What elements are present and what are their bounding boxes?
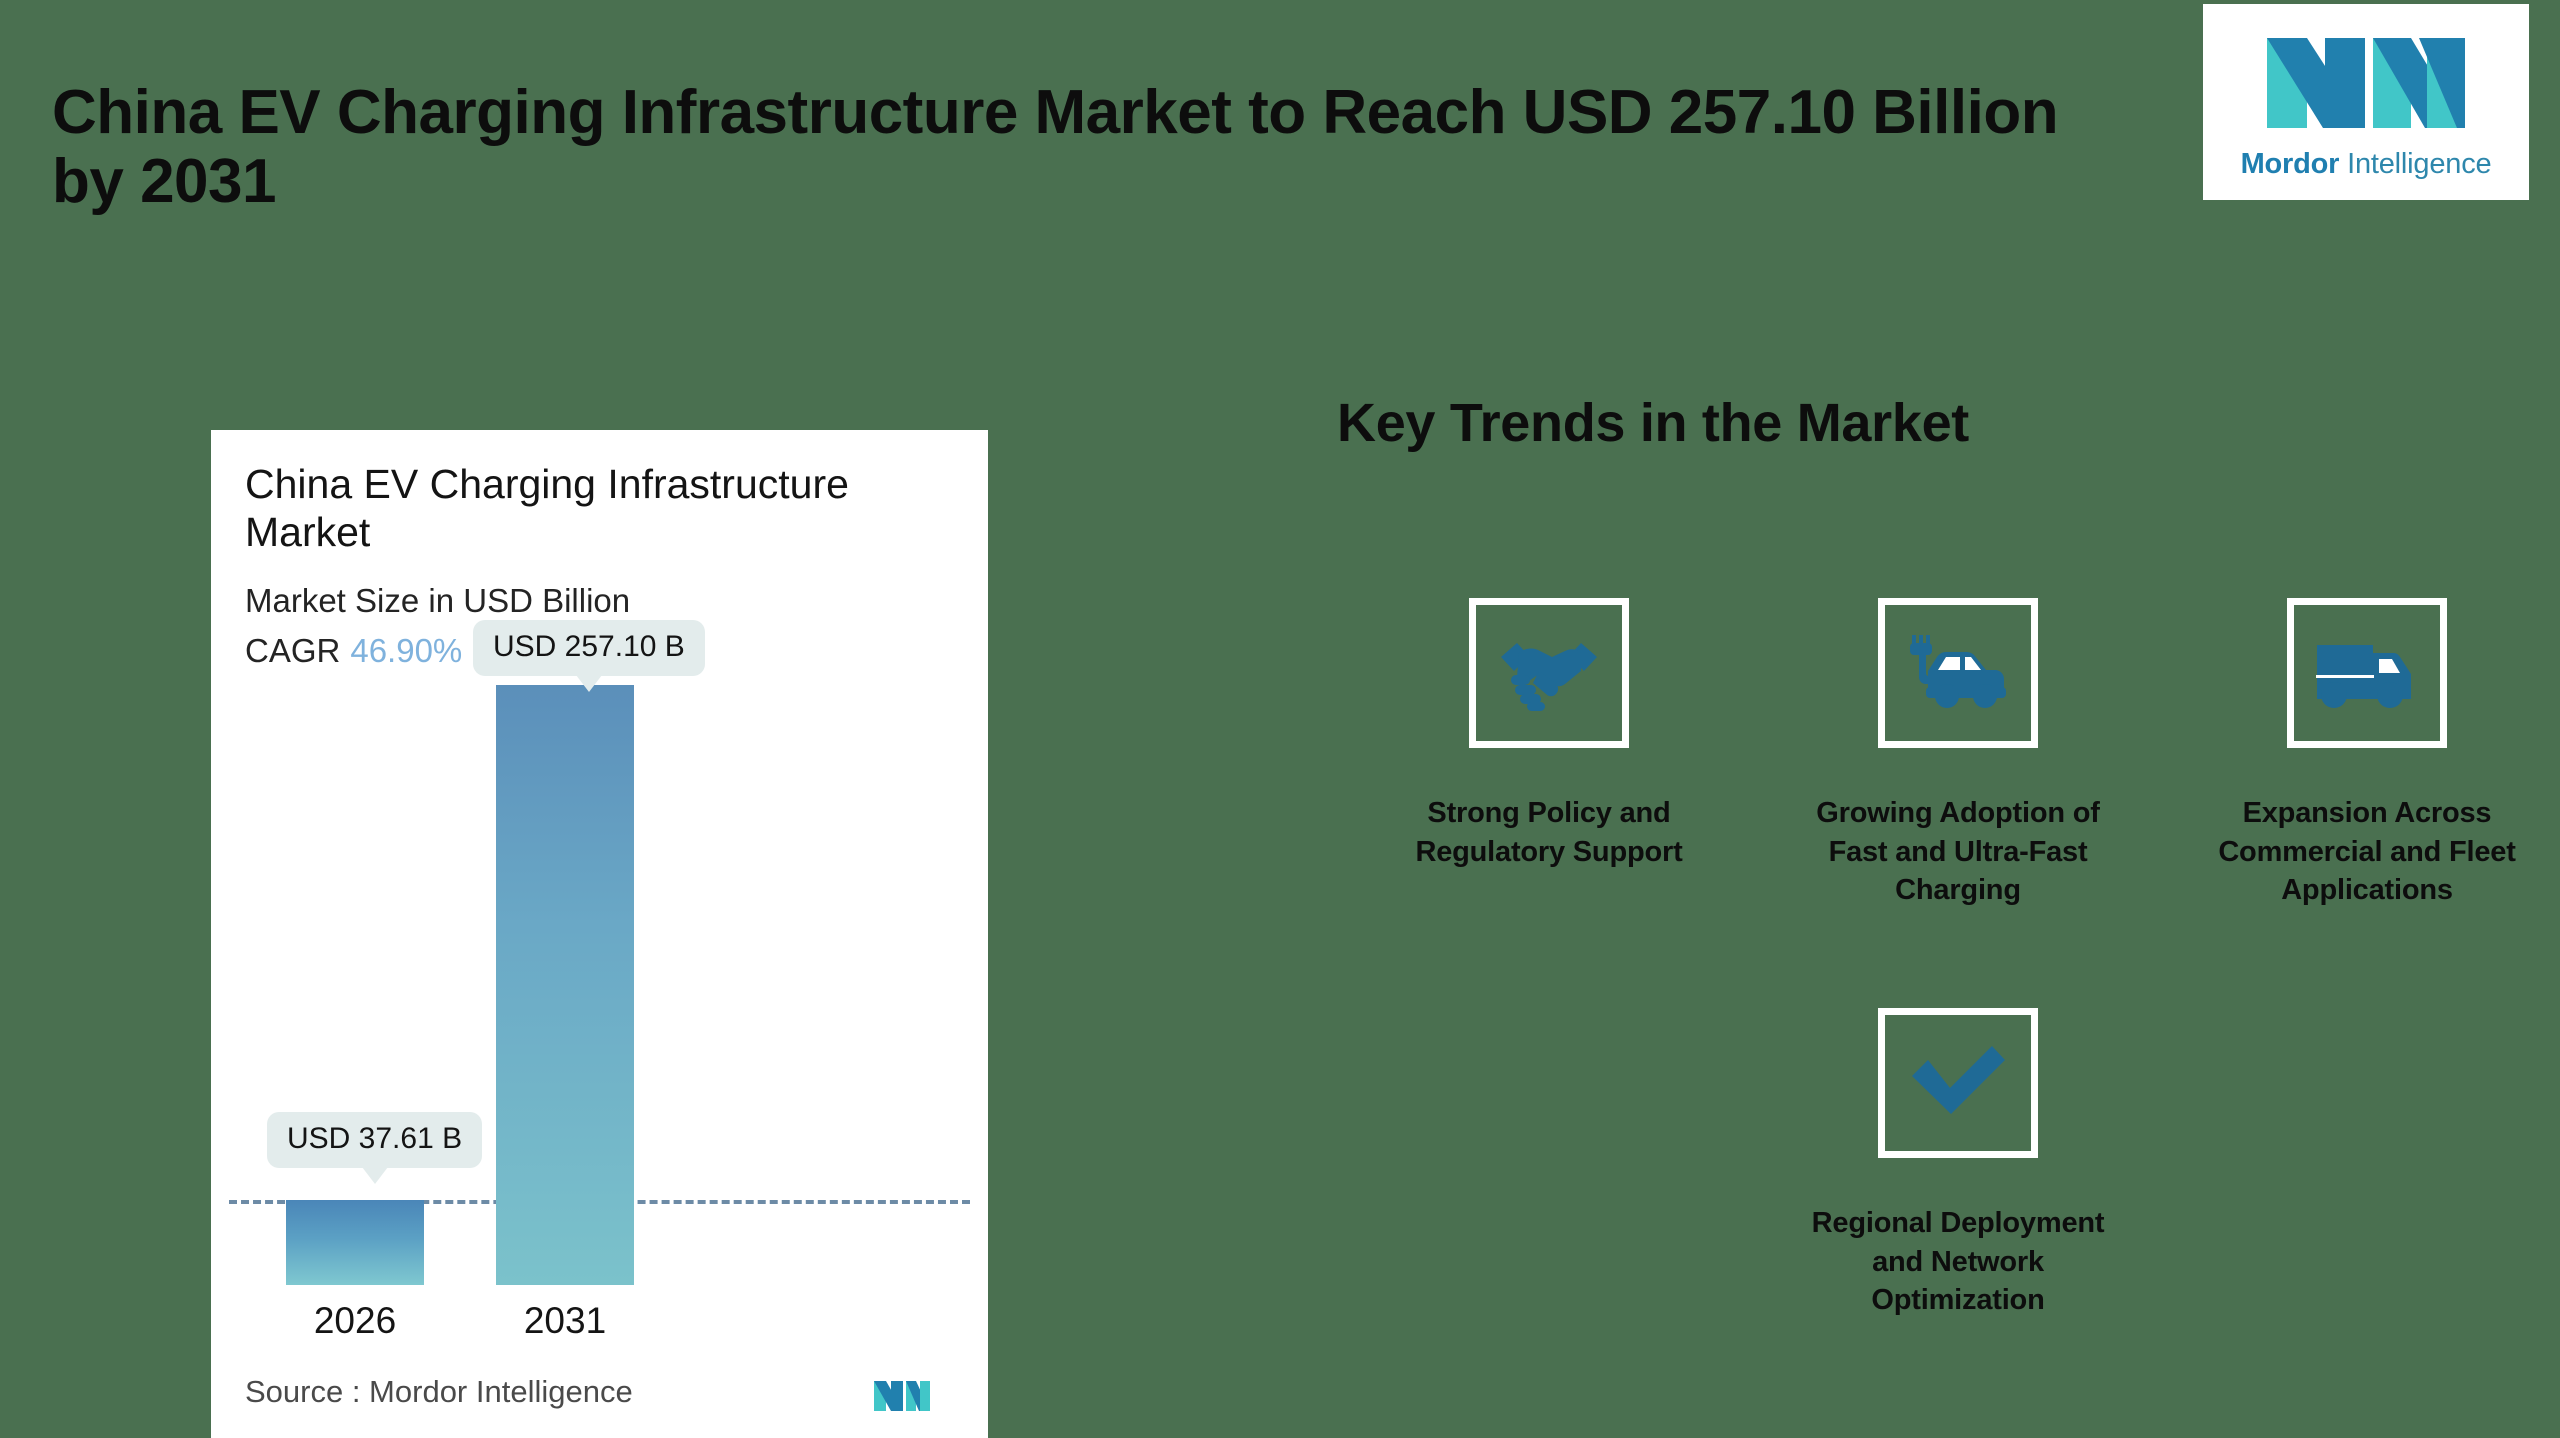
trend-item-fast-charging: Growing Adoption of Fast and Ultra-Fast …: [1798, 598, 2118, 910]
checkmark-icon: [1908, 1042, 2008, 1124]
bar-chart-plot-area: USD 37.61 B USD 257.10 B 2026 2031: [211, 430, 988, 1438]
trend-item-regional-deployment: Regional Deployment and Network Optimiza…: [1798, 1008, 2118, 1320]
trend-icon-box: [2287, 598, 2447, 748]
brand-logo-card: Mordor Intelligence: [2203, 4, 2529, 200]
trend-label: Growing Adoption of Fast and Ultra-Fast …: [1798, 794, 2118, 910]
trend-item-strong-policy: Strong Policy and Regulatory Support: [1389, 598, 1709, 871]
handshake-icon: [1495, 631, 1603, 715]
bar-value-label-2031: USD 257.10 B: [473, 620, 705, 676]
chart-card: China EV Charging Infrastructure Market …: [211, 430, 988, 1438]
bar-2031[interactable]: [496, 685, 634, 1285]
bar-2026[interactable]: [286, 1200, 424, 1285]
trend-label: Expansion Across Commercial and Fleet Ap…: [2207, 794, 2527, 910]
source-label: Source : Mordor Intelligence: [245, 1374, 633, 1410]
logo-wordmark: Mordor Intelligence: [2241, 148, 2492, 181]
x-axis-label-2026: 2026: [286, 1300, 424, 1342]
delivery-truck-icon: [2313, 631, 2421, 715]
trend-icon-box: [1469, 598, 1629, 748]
bar-value-label-2026: USD 37.61 B: [267, 1112, 482, 1168]
trend-item-commercial-fleet: Expansion Across Commercial and Fleet Ap…: [2207, 598, 2527, 910]
ev-car-charging-icon: [1904, 631, 2012, 715]
trend-label: Regional Deployment and Network Optimiza…: [1798, 1204, 2118, 1320]
page-title: China EV Charging Infrastructure Market …: [52, 78, 2112, 217]
trend-icon-box: [1878, 1008, 2038, 1158]
mordor-m-logo-icon: [2261, 24, 2471, 142]
x-axis-label-2031: 2031: [496, 1300, 634, 1342]
trend-icon-box: [1878, 598, 2038, 748]
key-trends-heading: Key Trends in the Market: [1337, 392, 1969, 454]
source-mordor-logo-icon: [872, 1376, 932, 1416]
trend-label: Strong Policy and Regulatory Support: [1389, 794, 1709, 871]
logo-wordmark-light: Intelligence: [2339, 148, 2491, 180]
logo-wordmark-bold: Mordor: [2241, 148, 2340, 180]
